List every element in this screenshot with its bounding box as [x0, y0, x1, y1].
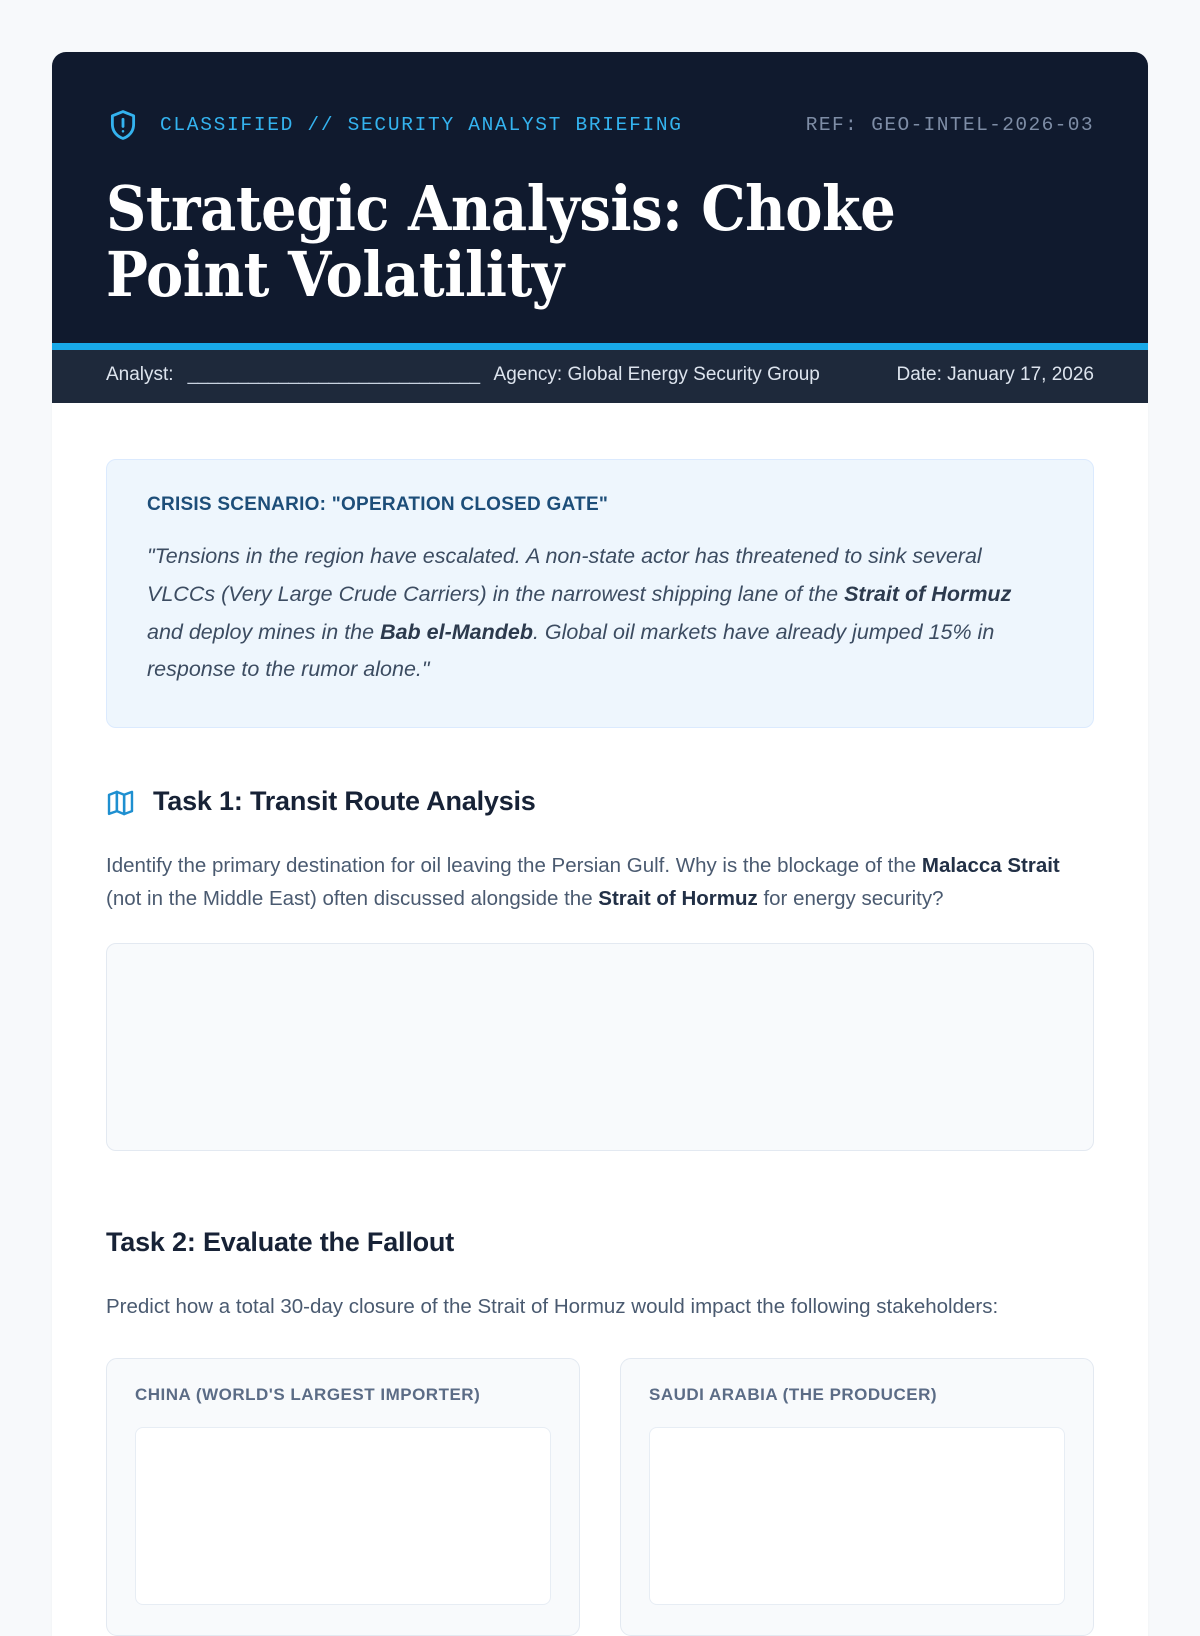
- task1-answer-field[interactable]: [106, 943, 1094, 1151]
- stakeholder-answer-saudi-arabia[interactable]: [649, 1427, 1065, 1605]
- stakeholder-label-china: CHINA (WORLD'S LARGEST IMPORTER): [135, 1385, 551, 1405]
- crisis-scenario-box: CRISIS SCENARIO: "OPERATION CLOSED GATE"…: [106, 459, 1094, 728]
- task1-heading: Task 1: Transit Route Analysis: [106, 786, 1094, 817]
- task1-prompt: Identify the primary destination for oil…: [106, 849, 1094, 915]
- document-body: CRISIS SCENARIO: "OPERATION CLOSED GATE"…: [52, 403, 1148, 1635]
- task2-prompt: Predict how a total 30-day closure of th…: [106, 1290, 1094, 1323]
- scenario-bold-babelmandeb: Bab el-Mandeb: [380, 620, 533, 644]
- shield-alert-icon: [106, 108, 140, 142]
- task1-bold-malacca: Malacca Strait: [922, 854, 1060, 877]
- map-icon: [106, 787, 135, 816]
- task1-bold-hormuz: Strait of Hormuz: [598, 887, 757, 910]
- scenario-bold-hormuz: Strait of Hormuz: [844, 582, 1011, 606]
- page-title: Strategic Analysis: Choke Point Volatili…: [106, 176, 898, 307]
- analyst-label: Analyst:: [106, 364, 174, 386]
- briefing-page: CLASSIFIED // SECURITY ANALYST BRIEFING …: [0, 0, 1200, 1636]
- date-label-wrap: Date: January 17, 2026: [896, 364, 1094, 386]
- accent-divider: [52, 343, 1148, 350]
- task2-heading-text: Task 2: Evaluate the Fallout: [106, 1227, 454, 1258]
- stakeholder-answer-china[interactable]: [135, 1427, 551, 1605]
- stakeholder-card-saudi-arabia: SAUDI ARABIA (THE PRODUCER): [620, 1358, 1094, 1636]
- scenario-text-part2: and deploy mines in the: [147, 620, 380, 644]
- date-label: Date: January 17, 2026: [896, 364, 1094, 386]
- classification-row: CLASSIFIED // SECURITY ANALYST BRIEFING …: [106, 108, 1094, 142]
- task1-prompt-part3: for energy security?: [758, 887, 944, 910]
- scenario-text: "Tensions in the region have escalated. …: [147, 538, 1053, 689]
- classified-label: CLASSIFIED // SECURITY ANALYST BRIEFING: [160, 114, 683, 136]
- task2-heading: Task 2: Evaluate the Fallout: [106, 1227, 1094, 1258]
- agency-label: Agency: Global Energy Security Group: [494, 364, 820, 386]
- stakeholder-label-saudi-arabia: SAUDI ARABIA (THE PRODUCER): [649, 1385, 1065, 1405]
- document-header: CLASSIFIED // SECURITY ANALYST BRIEFING …: [52, 52, 1148, 343]
- task1-prompt-part2: (not in the Middle East) often discussed…: [106, 887, 598, 910]
- task1-heading-text: Task 1: Transit Route Analysis: [153, 786, 536, 817]
- briefing-document: CLASSIFIED // SECURITY ANALYST BRIEFING …: [52, 52, 1148, 1636]
- task1-prompt-part1: Identify the primary destination for oil…: [106, 854, 922, 877]
- scenario-heading: CRISIS SCENARIO: "OPERATION CLOSED GATE": [147, 494, 1053, 516]
- analyst-name-blank[interactable]: _____________________________: [188, 364, 480, 386]
- stakeholder-grid: CHINA (WORLD'S LARGEST IMPORTER) SAUDI A…: [106, 1358, 1094, 1636]
- metadata-strip: Analyst: _____________________________ A…: [52, 350, 1148, 403]
- stakeholder-card-china: CHINA (WORLD'S LARGEST IMPORTER): [106, 1358, 580, 1636]
- reference-code: REF: GEO-INTEL-2026-03: [806, 114, 1094, 136]
